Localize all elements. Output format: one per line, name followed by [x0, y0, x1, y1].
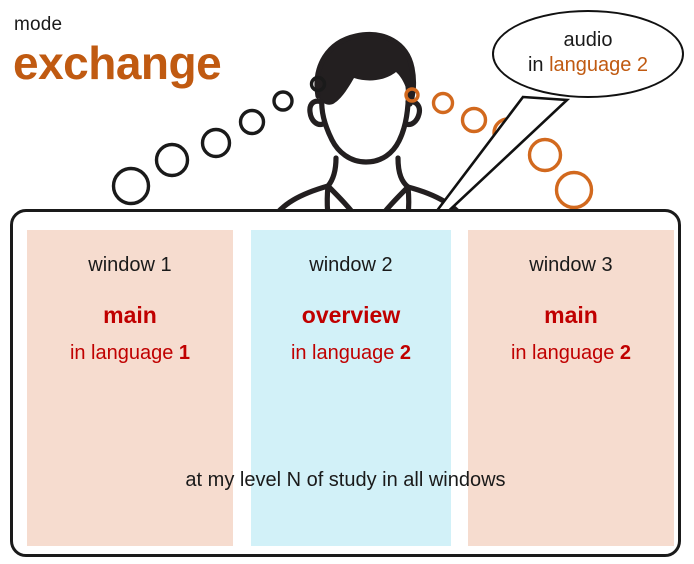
window-language-2: in language 2 [251, 342, 451, 365]
window-language-1: in language 1 [27, 342, 233, 365]
window-kind-1: main [27, 302, 233, 329]
window-column-1[interactable]: window 1 main in language 1 [27, 230, 233, 546]
study-level-note: at my level N of study in all windows [13, 469, 678, 492]
window-title-1: window 1 [27, 254, 233, 277]
bubble-line-2-prefix: in [528, 54, 549, 76]
window-language-prefix-1: in language [70, 342, 179, 364]
window-kind-3: main [468, 302, 674, 329]
window-language-3: in language 2 [468, 342, 674, 365]
bubble-line-2-accent: language 2 [549, 54, 648, 76]
window-language-prefix-2: in language [291, 342, 400, 364]
window-column-2[interactable]: window 2 overview in language 2 [251, 230, 451, 546]
bubble-line-1: audio [494, 28, 682, 53]
slide-canvas: mode exchange [0, 0, 694, 564]
windows-panel: window 1 main in language 1 window 2 ove… [10, 209, 681, 557]
mode-label: mode [14, 14, 62, 36]
bubble-line-2: in language 2 [494, 53, 682, 78]
window-kind-2: overview [251, 302, 451, 329]
window-language-number-3: 2 [620, 342, 631, 364]
audio-speech-bubble: audio in language 2 [492, 10, 684, 98]
window-language-number-1: 1 [179, 342, 190, 364]
window-language-prefix-3: in language [511, 342, 620, 364]
window-title-3: window 3 [468, 254, 674, 277]
window-title-2: window 2 [251, 254, 451, 277]
window-column-3[interactable]: window 3 main in language 2 [468, 230, 674, 546]
mode-value: exchange [13, 40, 221, 86]
orange-circle-trail [406, 89, 592, 208]
window-language-number-2: 2 [400, 342, 411, 364]
black-circle-trail [114, 78, 325, 204]
